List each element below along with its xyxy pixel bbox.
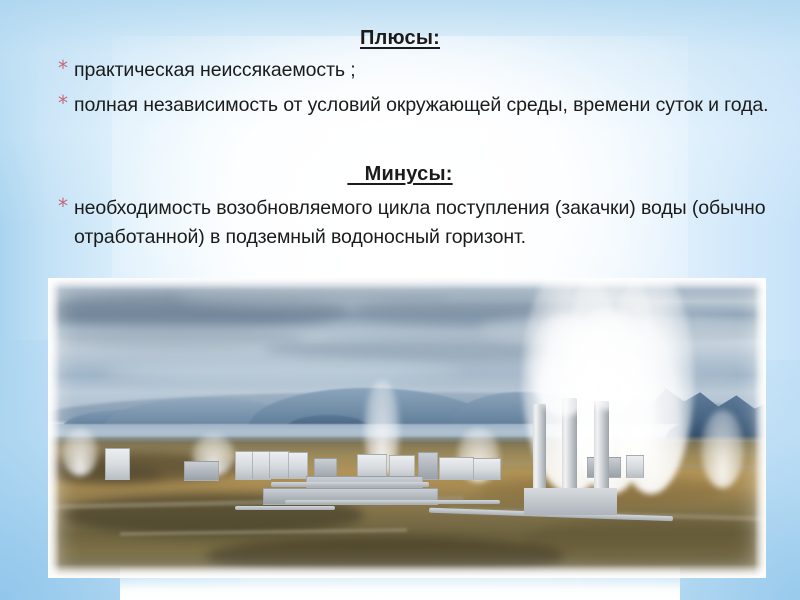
photo-plant-building: [269, 451, 290, 479]
photo-steam-plume-small: [62, 428, 98, 476]
asterisk-bullet-icon: *: [58, 196, 74, 216]
heading-pluses-label: Плюсы:: [360, 27, 440, 49]
bullet-item-3: * необходимость возобновляемого цикла по…: [58, 194, 778, 252]
bullet-item-1: * практическая неиссякаемость ;: [58, 56, 773, 85]
photo-plant-building: [288, 452, 309, 479]
bullet-item-3-text: необходимость возобновляемого цикла пост…: [74, 194, 778, 252]
photo-scene: [48, 278, 766, 578]
photo-plant-building: [626, 455, 644, 478]
photo-pipeline: [285, 500, 500, 504]
bullet-item-1-text: практическая неиссякаемость ;: [74, 56, 773, 85]
photo-chimney-base: [553, 488, 586, 515]
heading-minuses-label: Минусы:: [347, 163, 452, 185]
photo-plant-building: [473, 458, 501, 480]
photo-chimney-base: [584, 488, 617, 515]
bullet-item-2: * полная независимость от условий окружа…: [58, 91, 773, 120]
slide-canvas: Плюсы: * практическая неиссякаемость ; *…: [0, 0, 800, 600]
photo-steam-plume-front: [572, 308, 644, 410]
photo-plant-building: [439, 457, 473, 480]
heading-pluses: Плюсы:: [0, 27, 800, 50]
photo-pipeline: [235, 506, 336, 510]
heading-minuses: Минусы:: [0, 163, 800, 186]
asterisk-bullet-icon: *: [58, 58, 74, 78]
bullet-item-2-text: полная независимость от условий окружающ…: [74, 91, 773, 120]
photo-pipeline: [271, 482, 429, 487]
geothermal-plant-photo: [48, 278, 766, 578]
photo-plant-building: [184, 461, 218, 481]
asterisk-bullet-icon: *: [58, 93, 74, 113]
photo-chimney-base: [524, 488, 556, 515]
photo-plant-building: [105, 448, 130, 480]
background-bottom-fade: [120, 566, 680, 600]
